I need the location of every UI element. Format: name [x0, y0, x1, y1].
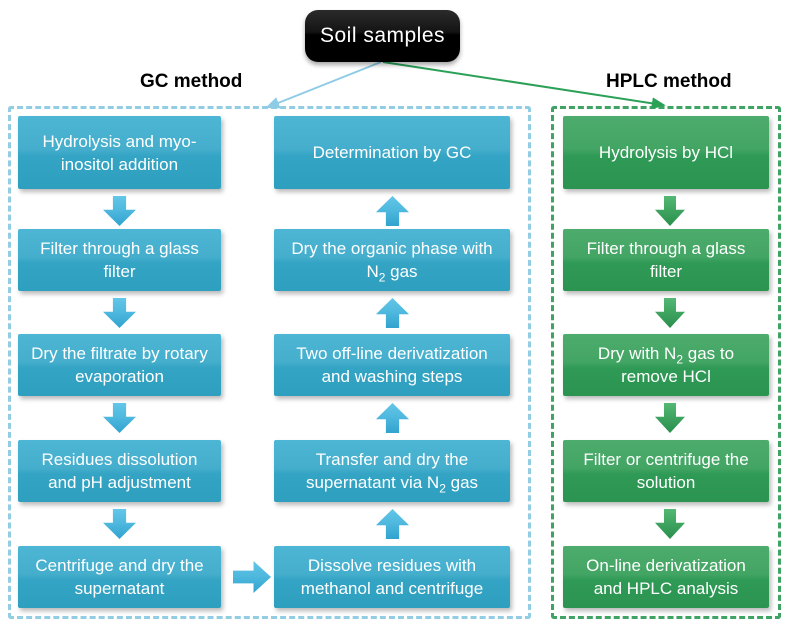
soil-samples-node: Soil samples: [305, 10, 460, 62]
hplc-method-heading: HPLC method: [606, 71, 732, 93]
soil-samples-label: Soil samples: [320, 24, 445, 48]
connector-layer: [0, 0, 789, 629]
gc-method-heading: GC method: [140, 71, 242, 93]
connector-soil-to-gc: [268, 62, 381, 107]
flowchart-canvas: Soil samples GC method HPLC method Hydro…: [0, 0, 789, 629]
